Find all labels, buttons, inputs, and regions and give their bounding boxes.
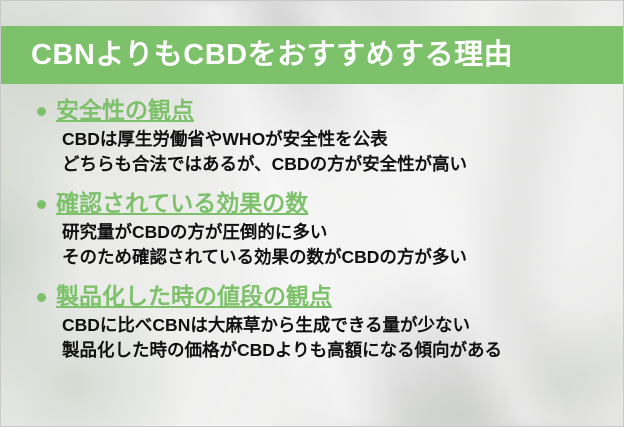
bullet-dot-icon [37,293,46,302]
body-line: CBDに比べCBNは大麻草から生成できる量が少ない [62,313,605,338]
section-line-list: CBDに比べCBNは大麻草から生成できる量が少ない 製品化した時の価格がCBDよ… [19,313,605,363]
section-product-price: 製品化した時の値段の観点 CBDに比べCBNは大麻草から生成できる量が少ない 製… [19,283,605,363]
section-heading: 確認されている効果の数 [56,190,308,217]
section-confirmed-effects: 確認されている効果の数 研究量がCBDの方が圧倒的に多い そのため確認されている… [19,190,605,270]
section-heading-row: 安全性の観点 [19,97,605,124]
section-safety: 安全性の観点 CBDは厚生労働省やWHOが安全性を公表 どちらも合法ではあるが、… [19,97,605,177]
body-line: CBDは厚生労働省やWHOが安全性を公表 [62,127,605,152]
section-heading: 安全性の観点 [56,97,194,124]
body-line: 研究量がCBDの方が圧倒的に多い [62,220,605,245]
body-line: そのため確認されている効果の数がCBDの方が多い [62,245,605,270]
section-heading-row: 確認されている効果の数 [19,190,605,217]
body-line: どちらも合法ではあるが、CBDの方が安全性が高い [62,152,605,177]
section-heading: 製品化した時の値段の観点 [56,283,332,310]
page-title: CBNよりもCBDをおすすめする理由 [31,41,513,70]
slide-root: CBNよりもCBDをおすすめする理由 安全性の観点 CBDは厚生労働省やWHOが… [0,0,624,427]
body-line: 製品化した時の価格がCBDよりも高額になる傾向がある [62,338,605,363]
bullet-dot-icon [37,200,46,209]
section-line-list: CBDは厚生労働省やWHOが安全性を公表 どちらも合法ではあるが、CBDの方が安… [19,127,605,177]
title-banner: CBNよりもCBDをおすすめする理由 [1,26,623,84]
section-heading-row: 製品化した時の値段の観点 [19,283,605,310]
section-line-list: 研究量がCBDの方が圧倒的に多い そのため確認されている効果の数がCBDの方が多… [19,220,605,270]
content-body: 安全性の観点 CBDは厚生労働省やWHOが安全性を公表 どちらも合法ではあるが、… [1,97,623,362]
bullet-dot-icon [37,107,46,116]
